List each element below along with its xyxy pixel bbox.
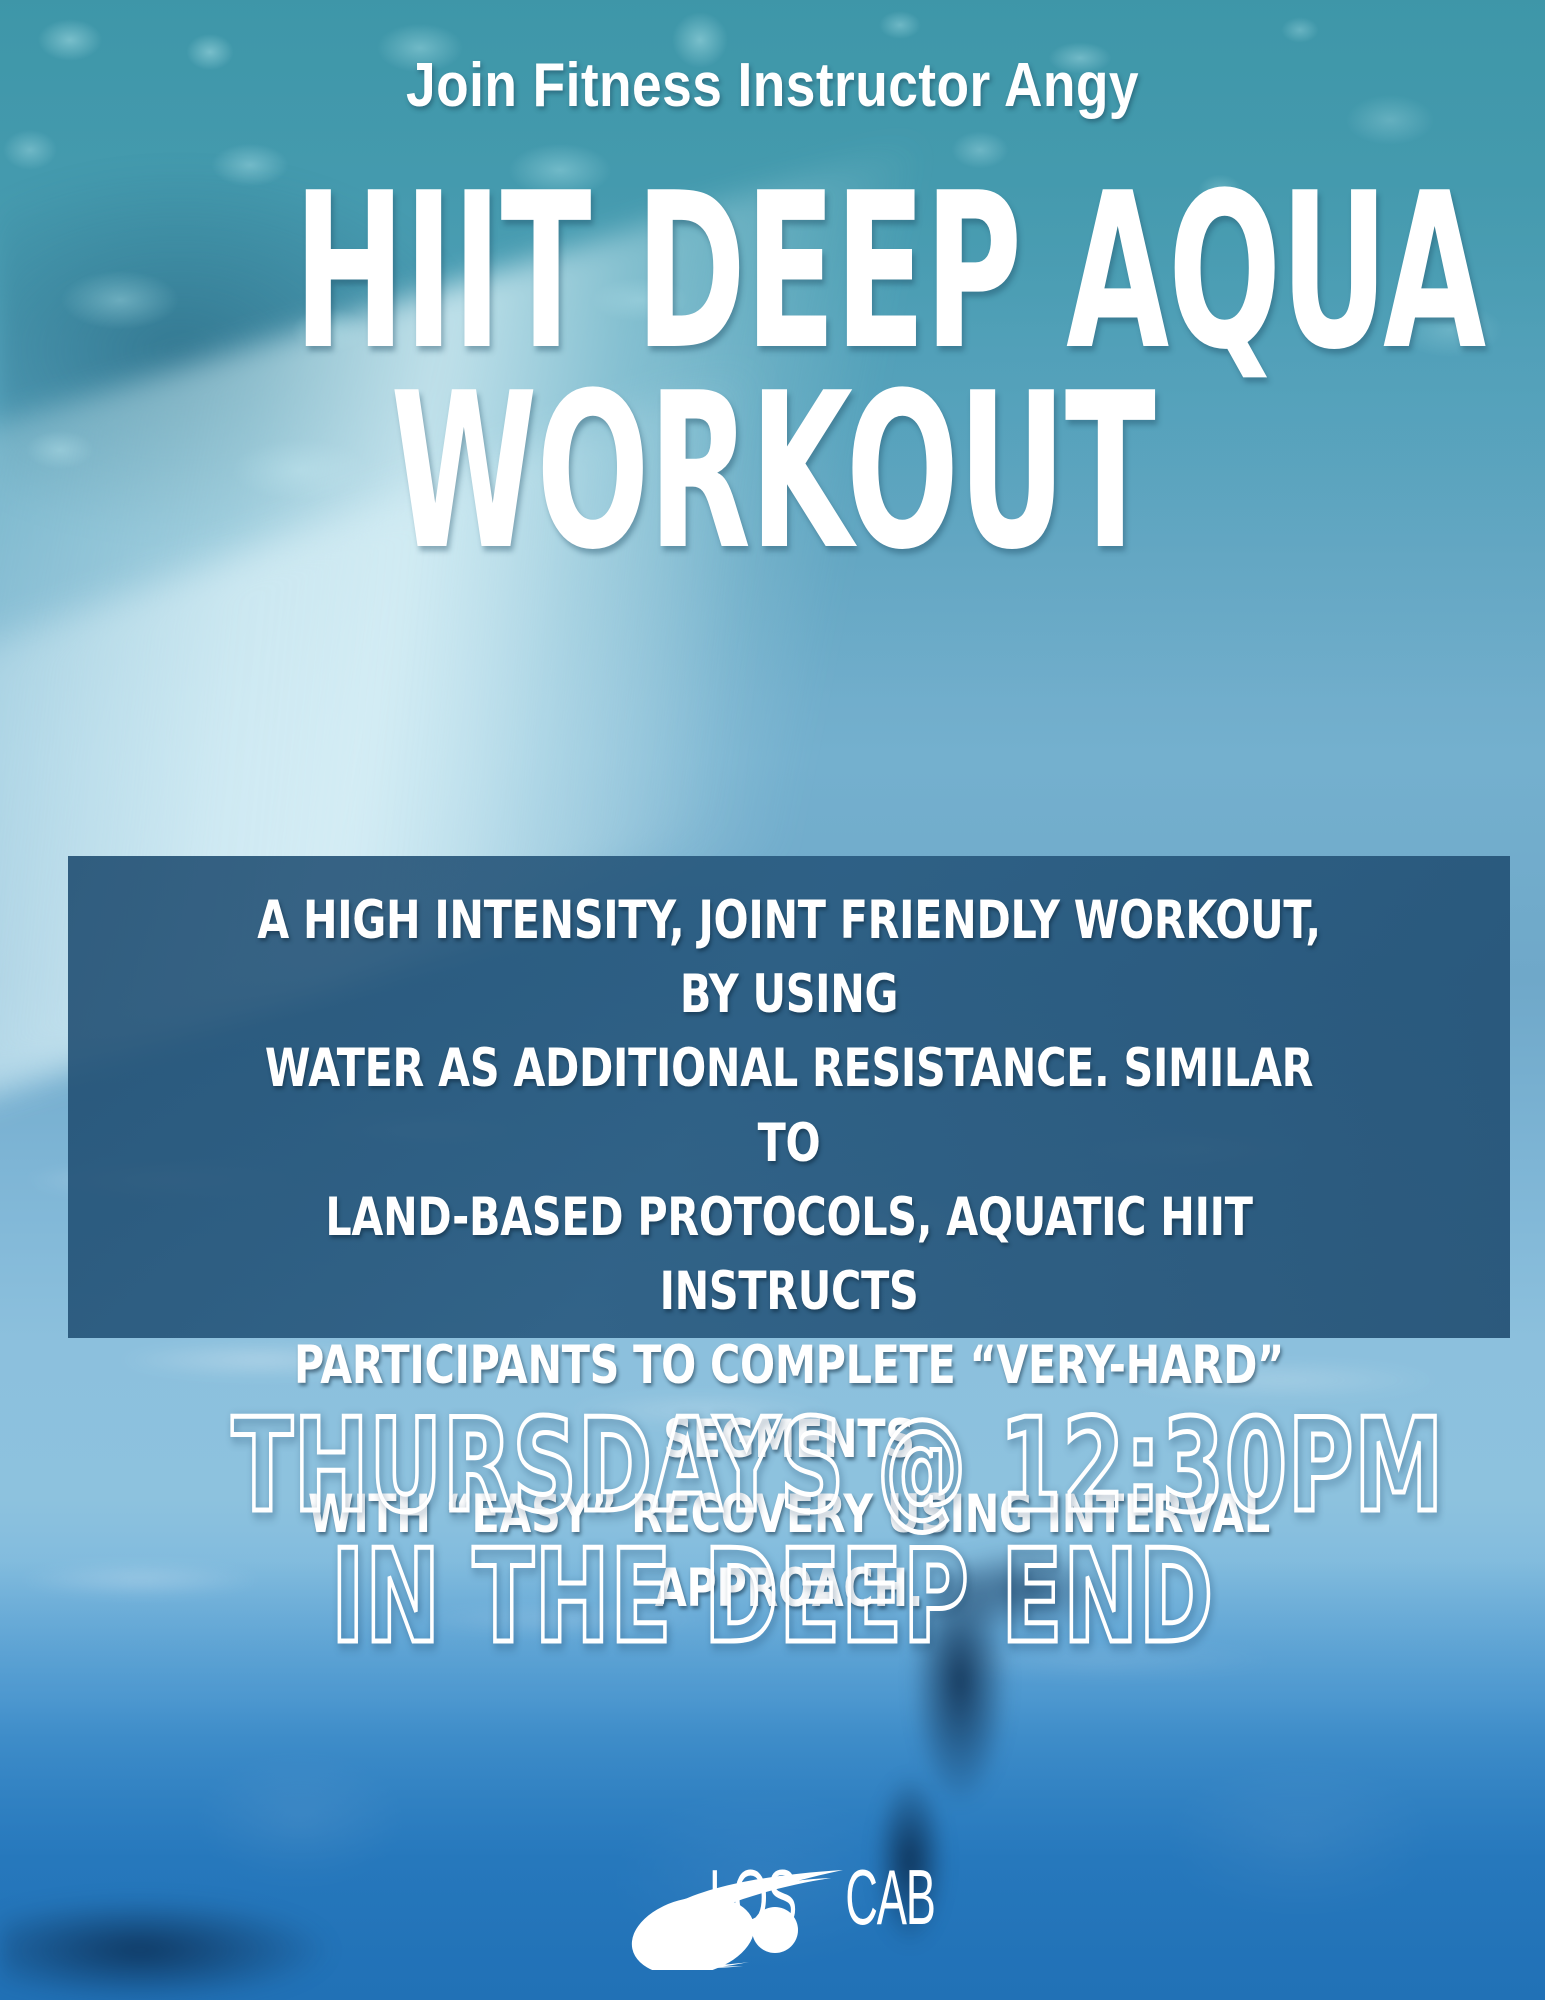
schedule-line-1: THURSDAYS @ 12:30PM (232, 1392, 1444, 1541)
poster-canvas: Join Fitness Instructor Angy HIIT DEEP A… (0, 0, 1545, 2000)
schedule-line-2: IN THE DEEP END (232, 1533, 1314, 1664)
poster-content: Join Fitness Instructor Angy HIIT DEEP A… (0, 0, 1545, 2000)
kicker-text: Join Fitness Instructor Angy (108, 50, 1437, 121)
title-line-2: WORKOUT (294, 372, 1252, 572)
logo-text-left: LOS (709, 1853, 796, 1941)
logo-text-right: CAB (845, 1853, 935, 1941)
description-panel: A HIGH INTENSITY, JOINT FRIENDLY WORKOUT… (68, 856, 1510, 1338)
page-title: HIIT DEEP AQUA WORKOUT (294, 172, 1252, 572)
schedule-text: THURSDAYS @ 12:30PM IN THE DEEP END (232, 1402, 1314, 1663)
los-cab-logo: LOS CAB (593, 1820, 953, 1970)
